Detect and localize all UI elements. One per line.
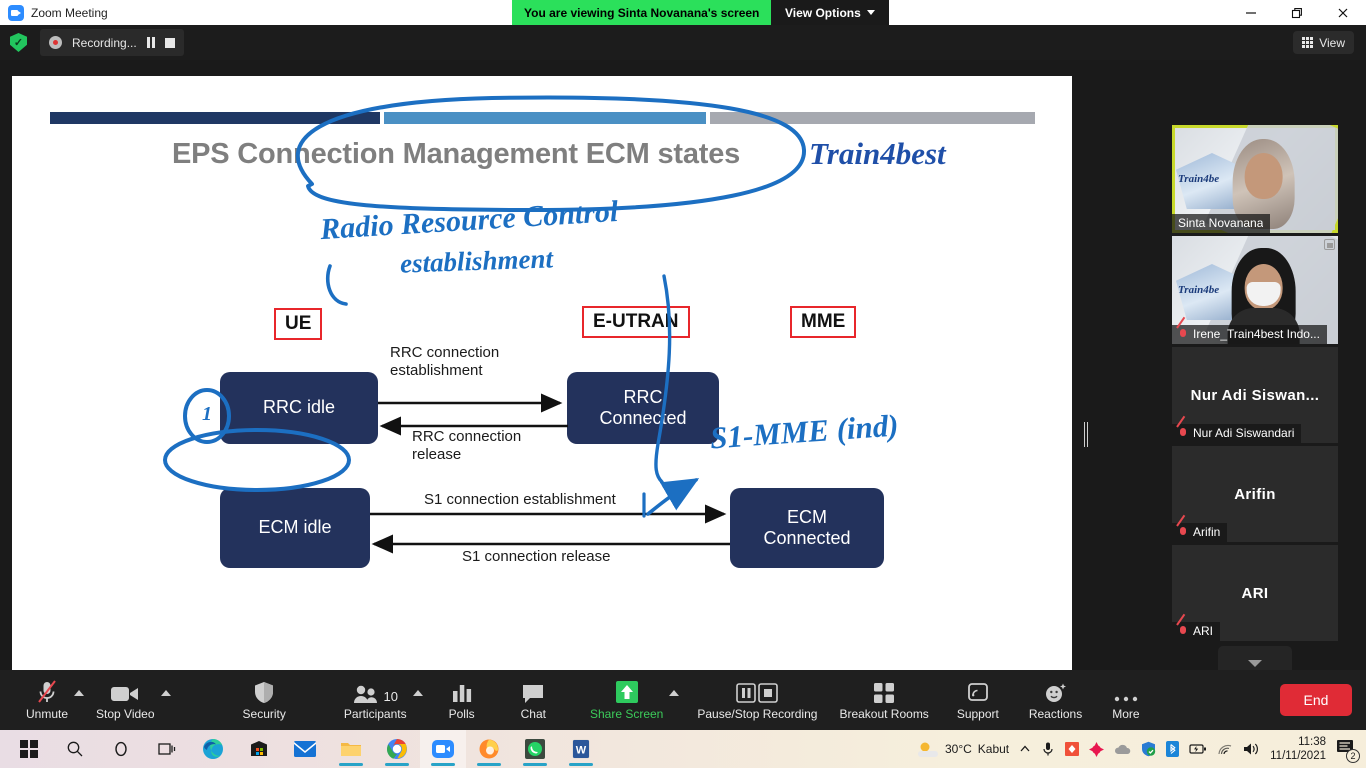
start-icon[interactable]: [6, 730, 52, 768]
node-mme-label: MME: [801, 311, 845, 333]
maximize-restore-button[interactable]: [1274, 0, 1320, 25]
viewing-banner-text: You are viewing Sinta Novanana's screen: [524, 6, 759, 20]
participants-button[interactable]: 10 Participants: [340, 670, 411, 730]
participant-name-label: Nur Adi Siswandari: [1193, 426, 1294, 440]
unmute-label: Unmute: [26, 707, 68, 721]
support-icon: [966, 680, 990, 704]
task-view-icon[interactable]: [144, 730, 190, 768]
window-controls: [1228, 0, 1366, 25]
participants-options-caret[interactable]: [411, 670, 431, 730]
breakout-rooms-button[interactable]: Breakout Rooms: [835, 670, 932, 730]
microphone-muted-icon: [1178, 526, 1188, 539]
pip-icon[interactable]: [1324, 239, 1335, 250]
viewing-screen-banner: You are viewing Sinta Novanana's screen: [512, 0, 771, 25]
app-identity: Zoom Meeting: [0, 5, 108, 21]
file-explorer-icon[interactable]: [328, 730, 374, 768]
shared-slide: EPS Connection Management ECM states Tra…: [12, 76, 1072, 676]
state-box-rrc-connected: RRC Connected: [567, 372, 719, 444]
end-button-label: End: [1304, 692, 1329, 708]
handwriting-establishment: establishment: [400, 243, 554, 279]
header-bar-3: [710, 112, 1035, 124]
node-e-utran: E-UTRAN: [582, 306, 690, 338]
reactions-icon: [1044, 680, 1068, 704]
share-screen-button[interactable]: Share Screen: [586, 670, 667, 730]
transition-label-s1-establishment: S1 connection establishment: [424, 491, 616, 509]
chevron-down-icon: [1248, 660, 1262, 667]
polls-button[interactable]: Polls: [445, 670, 479, 730]
close-button[interactable]: [1320, 0, 1366, 25]
stop-video-label: Stop Video: [96, 707, 155, 721]
participant-name-badge: ARI: [1172, 622, 1220, 641]
avatar-display-name: Nur Adi Siswan...: [1191, 387, 1320, 404]
participants-label: Participants: [344, 707, 407, 721]
participant-name-label: Arifin: [1193, 525, 1220, 539]
node-ue-label: UE: [285, 313, 311, 335]
notification-center-button[interactable]: 2: [1336, 738, 1358, 760]
state-box-rrc-idle: RRC idle: [220, 372, 378, 444]
people-icon: 10: [353, 680, 398, 704]
security-label: Security: [243, 707, 286, 721]
clock-time: 11:38: [1270, 735, 1326, 749]
participant-rail: Train4be Sinta Novanana Train4be: [1144, 60, 1366, 670]
participant-name-badge: Irene_Train4best Indo...: [1172, 325, 1327, 344]
node-ue: UE: [274, 308, 322, 340]
bar-chart-icon: [451, 680, 473, 704]
app-pink-icon[interactable]: [1089, 742, 1104, 757]
more-label: More: [1112, 707, 1139, 721]
microphone-muted-icon: [1178, 625, 1188, 638]
microsoft-edge-icon[interactable]: [190, 730, 236, 768]
slide-title: EPS Connection Management ECM states: [172, 138, 812, 171]
shield-check-icon[interactable]: ✓: [10, 33, 27, 52]
video-panel-drag-handle[interactable]: [1084, 422, 1088, 447]
windows-taskbar: W 30°C Kabut: [0, 730, 1366, 768]
microphone-icon[interactable]: [1041, 741, 1055, 757]
participant-tile-nur-adi[interactable]: Nur Adi Siswan... Nur Adi Siswandari: [1172, 347, 1338, 443]
network-icon[interactable]: [1217, 743, 1233, 756]
app-red-icon[interactable]: [1065, 742, 1079, 756]
node-mme: MME: [790, 306, 856, 338]
microphone-muted-icon: [36, 680, 58, 704]
state-box-ecm-connected: ECM Connected: [730, 488, 884, 568]
video-camera-icon: [109, 680, 141, 704]
share-screen-label: Share Screen: [590, 707, 663, 721]
notification-count: 2: [1346, 749, 1360, 763]
slide-header-bars: [50, 112, 1035, 124]
view-button-label: View: [1319, 36, 1345, 50]
svg-text:1: 1: [202, 403, 212, 425]
battery-icon[interactable]: [1189, 743, 1207, 755]
audio-options-caret[interactable]: [72, 670, 92, 730]
clock-date: 11/11/2021: [1270, 749, 1326, 763]
pause-stop-recording-icon: [736, 680, 778, 704]
zoom-icon: [8, 5, 24, 21]
end-meeting-button[interactable]: End: [1280, 684, 1352, 716]
pause-icon[interactable]: [147, 37, 155, 48]
bluetooth-icon[interactable]: [1166, 741, 1179, 757]
brand-logo-text: Train4best: [809, 136, 946, 172]
video-options-caret[interactable]: [159, 670, 179, 730]
zoom-meeting-window: Zoom Meeting You are viewing Sinta Novan…: [0, 0, 1366, 768]
chevron-down-icon: [867, 10, 875, 15]
whatsapp-icon[interactable]: [512, 730, 558, 768]
stop-icon[interactable]: [165, 38, 175, 48]
chat-bubble-icon: [521, 680, 545, 704]
more-button[interactable]: More: [1108, 670, 1143, 730]
header-bar-1: [50, 112, 380, 124]
participant-name-badge: Sinta Novanana: [1172, 214, 1270, 233]
mail-icon[interactable]: [282, 730, 328, 768]
transition-label-rrc-release: RRC connection release: [412, 428, 521, 465]
reactions-label: Reactions: [1029, 707, 1082, 721]
grid-view-icon: [1302, 37, 1313, 48]
system-tray: 30°C Kabut: [917, 730, 1358, 768]
title-bar: Zoom Meeting You are viewing Sinta Novan…: [0, 0, 1366, 25]
pause-stop-recording-button[interactable]: Pause/Stop Recording: [693, 670, 821, 730]
cortana-icon[interactable]: [98, 730, 144, 768]
search-icon[interactable]: [52, 730, 98, 768]
chat-button[interactable]: Chat: [517, 670, 550, 730]
weather-widget[interactable]: 30°C Kabut: [917, 740, 1009, 758]
node-e-utran-label: E-UTRAN: [593, 311, 679, 333]
recording-status-label: Recording...: [72, 36, 137, 50]
recording-status-group: Recording...: [40, 29, 184, 56]
recording-bar: ✓ Recording... View: [0, 25, 1366, 60]
weather-condition: Kabut: [978, 742, 1009, 756]
show-hidden-icons-icon[interactable]: [1019, 743, 1031, 755]
transition-label-s1-release: S1 connection release: [462, 548, 610, 566]
transition-label-rrc-establishment: RRC connection establishment: [390, 344, 499, 381]
polls-label: Polls: [449, 707, 475, 721]
participant-tile-irene[interactable]: Train4be Irene_Train4best Indo...: [1172, 236, 1338, 344]
state-box-rrc-idle-label: RRC idle: [263, 397, 335, 418]
firefox-icon[interactable]: [466, 730, 512, 768]
state-box-ecm-idle-label: ECM idle: [258, 517, 331, 538]
avatar-display-name: ARI: [1241, 585, 1268, 602]
support-button[interactable]: Support: [953, 670, 1003, 730]
onedrive-icon[interactable]: [1114, 743, 1131, 755]
participant-name-label: Irene_Train4best Indo...: [1193, 327, 1320, 341]
header-bar-2: [384, 112, 706, 124]
unmute-button[interactable]: Unmute: [22, 670, 72, 730]
clock[interactable]: 11:38 11/11/2021: [1270, 735, 1326, 764]
ellipsis-icon: [1113, 680, 1139, 704]
participant-name-badge: Arifin: [1172, 523, 1227, 542]
zoom-icon[interactable]: [420, 730, 466, 768]
participant-name-label: Sinta Novanana: [1178, 216, 1263, 230]
view-options-label: View Options: [785, 6, 861, 20]
handwriting-s1-mme: S1-MME (ind): [709, 407, 900, 456]
microsoft-store-icon[interactable]: [236, 730, 282, 768]
meeting-controls-bar: Unmute Stop Video Security: [0, 670, 1366, 730]
record-dot-icon: [49, 36, 62, 49]
participant-tile-ari[interactable]: ARI ARI: [1172, 545, 1338, 641]
google-chrome-icon[interactable]: [374, 730, 420, 768]
weather-temperature: 30°C: [945, 742, 972, 756]
app-title: Zoom Meeting: [31, 6, 108, 20]
volume-icon[interactable]: [1243, 742, 1260, 756]
minimize-button[interactable]: [1228, 0, 1274, 25]
participants-count: 10: [384, 689, 398, 704]
chat-label: Chat: [521, 707, 546, 721]
security-icon[interactable]: [1141, 741, 1156, 757]
svg-text:W: W: [576, 745, 587, 757]
state-box-rrc-connected-label: RRC Connected: [599, 387, 686, 429]
state-box-ecm-idle: ECM idle: [220, 488, 370, 568]
microsoft-word-icon[interactable]: W: [558, 730, 604, 768]
view-layout-button[interactable]: View: [1293, 31, 1354, 54]
participant-tile-sinta[interactable]: Train4be Sinta Novanana: [1172, 125, 1338, 233]
reactions-button[interactable]: Reactions: [1025, 670, 1086, 730]
view-options-button[interactable]: View Options: [771, 0, 889, 25]
microphone-muted-icon: [1178, 328, 1188, 341]
participant-name-badge: Nur Adi Siswandari: [1172, 424, 1301, 443]
share-options-caret[interactable]: [667, 670, 687, 730]
avatar-display-name: Arifin: [1234, 486, 1276, 503]
state-box-ecm-connected-label: ECM Connected: [763, 507, 850, 549]
breakout-rooms-icon: [873, 680, 895, 704]
breakout-rooms-label: Breakout Rooms: [839, 707, 928, 721]
security-button[interactable]: Security: [239, 670, 290, 730]
participant-name-label: ARI: [1193, 624, 1213, 638]
stop-video-button[interactable]: Stop Video: [92, 670, 159, 730]
handwriting-radio-resource-control: Radio Resource Control: [319, 195, 619, 247]
weather-icon: [917, 740, 939, 758]
pause-stop-recording-label: Pause/Stop Recording: [697, 707, 817, 721]
participant-tile-arifin[interactable]: Arifin Arifin: [1172, 446, 1338, 542]
support-label: Support: [957, 707, 999, 721]
share-screen-icon: [615, 680, 639, 704]
microphone-muted-icon: [1178, 427, 1188, 440]
shield-icon: [253, 680, 275, 704]
